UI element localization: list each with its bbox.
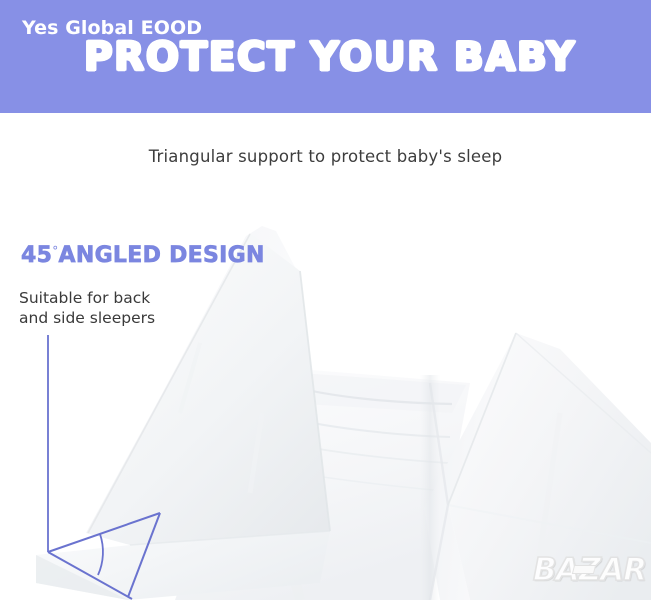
watermark-slash-icon xyxy=(572,565,596,574)
header-banner: Yes Global EOOD PROTECT YOUR BABY xyxy=(0,0,651,113)
page-title: PROTECT YOUR BABY xyxy=(84,38,576,77)
subtitle-text: Triangular support to protect baby's sle… xyxy=(0,147,651,166)
feature-heading-label: ANGLED DESIGN xyxy=(59,243,265,268)
feature-description: Suitable for back and side sleepers xyxy=(19,288,155,328)
product-left-wedge xyxy=(36,226,332,600)
feature-angle-value: 45 xyxy=(21,243,52,268)
product-image-canvas: Yes Global EOOD PROTECT YOUR BABY Triang… xyxy=(0,0,651,600)
product-photo xyxy=(0,113,651,600)
feature-heading: 45°ANGLED DESIGN xyxy=(21,243,265,268)
bazar-watermark: BAZAR xyxy=(533,548,645,592)
